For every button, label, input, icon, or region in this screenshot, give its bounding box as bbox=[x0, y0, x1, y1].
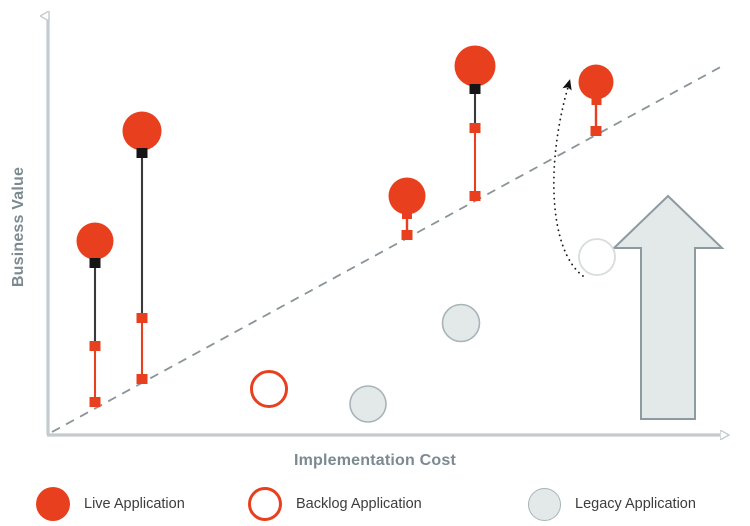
balloon-anchor-black bbox=[470, 84, 481, 94]
outlined-red-circle-icon bbox=[248, 487, 282, 521]
balloon-node-red-upper bbox=[90, 341, 101, 351]
balloon-anchor-black bbox=[137, 148, 148, 158]
live-application-balloon[interactable] bbox=[77, 223, 114, 408]
x-axis-title: Implementation Cost bbox=[0, 452, 750, 470]
backlog-application-marker[interactable] bbox=[252, 372, 287, 407]
y-axis-title: Business Value bbox=[10, 142, 28, 312]
balloon-anchor-red bbox=[592, 96, 602, 105]
legend-item-legacy[interactable]: Legacy Application bbox=[528, 482, 696, 526]
legend-label-live: Live Application bbox=[84, 496, 185, 512]
balloon-node-red-lower bbox=[591, 126, 602, 136]
legacy-application-marker[interactable] bbox=[350, 386, 386, 422]
balloon-node-red-lower bbox=[137, 374, 148, 384]
balloon-node-red-upper bbox=[470, 123, 481, 133]
balloon-bubble bbox=[77, 223, 114, 260]
scatter-plot-svg bbox=[0, 0, 750, 526]
live-application-balloon[interactable] bbox=[579, 65, 614, 137]
chart-legend: Live Application Backlog Application Leg… bbox=[0, 482, 750, 526]
live-application-balloon[interactable] bbox=[123, 112, 162, 385]
balloon-bubble bbox=[579, 65, 614, 100]
balloon-node-red-lower bbox=[90, 397, 101, 407]
balloon-node-red-lower bbox=[402, 230, 413, 240]
balloon-node-red-lower bbox=[470, 191, 481, 201]
filled-red-circle-icon bbox=[36, 487, 70, 521]
chart-canvas: Business Value Implementation Cost Live … bbox=[0, 0, 750, 526]
legend-item-backlog[interactable]: Backlog Application bbox=[248, 482, 422, 526]
legend-label-backlog: Backlog Application bbox=[296, 496, 422, 512]
balloon-anchor-red bbox=[402, 210, 412, 219]
growth-arrow-icon bbox=[614, 196, 722, 419]
transition-arrow bbox=[554, 84, 583, 276]
legend-label-legacy: Legacy Application bbox=[575, 496, 696, 512]
balloon-node-red-upper bbox=[137, 313, 148, 323]
balloon-bubble bbox=[389, 178, 426, 215]
backlog-application-faded-marker[interactable] bbox=[579, 239, 615, 275]
legend-item-live[interactable]: Live Application bbox=[36, 482, 185, 526]
balloon-bubble bbox=[455, 46, 496, 87]
balloon-bubble bbox=[123, 112, 162, 151]
legacy-application-marker[interactable] bbox=[443, 305, 480, 342]
filled-grey-circle-icon bbox=[528, 488, 561, 521]
live-application-balloon[interactable] bbox=[455, 46, 496, 202]
balloon-anchor-black bbox=[90, 258, 101, 268]
